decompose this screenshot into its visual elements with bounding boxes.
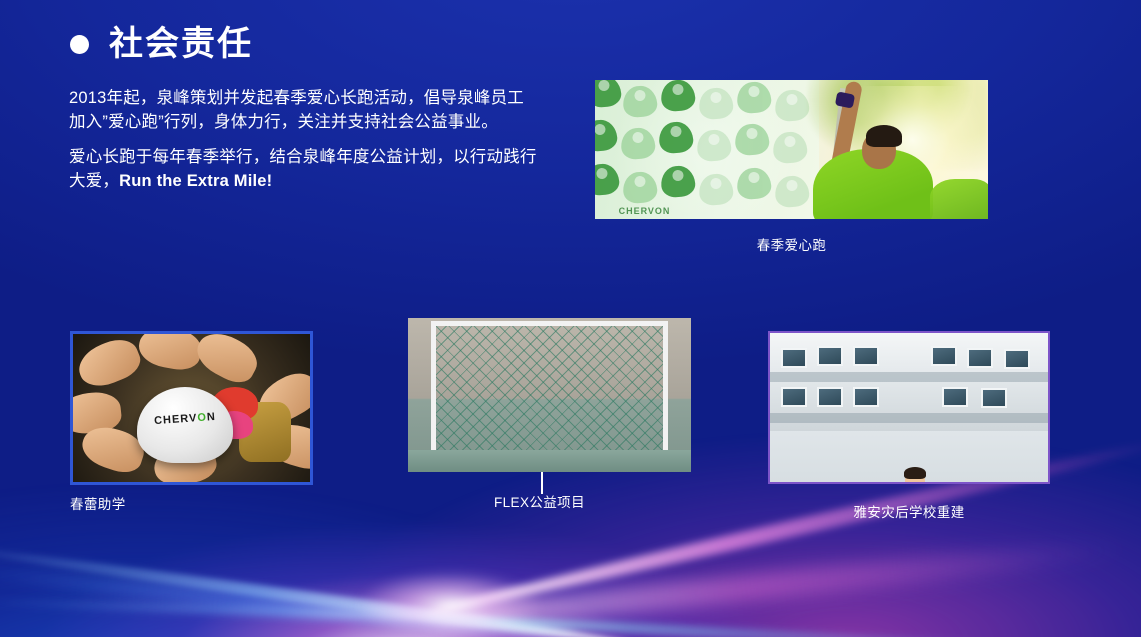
light-burst-core	[355, 570, 545, 637]
photo-chunlei-scholarship: CHERVON	[70, 331, 313, 485]
page-title: 社会责任	[109, 26, 253, 63]
second-runner	[930, 179, 988, 219]
caption-chunlei-scholarship: 春蕾助学	[70, 493, 313, 513]
paragraph-2-bold-tail: Run the Extra Mile!	[119, 172, 272, 190]
slide-canvas: 社会责任 2013年起，泉峰策划并发起春季爱心长跑活动，倡导泉峰员工加入”爱心跑…	[0, 0, 1141, 637]
body-copy: 2013年起，泉峰策划并发起春季爱心长跑活动，倡导泉峰员工加入”爱心跑”行列，身…	[69, 87, 539, 194]
caption-spring-charity-run: 春季爱心跑	[595, 234, 988, 254]
figure-yaan-school-rebuild: 雅安灾后学校重建	[768, 331, 1050, 521]
caption-flex-charity-project: FLEX公益项目	[494, 491, 585, 511]
caption-yaan-school-rebuild: 雅安灾后学校重建	[768, 501, 1050, 521]
page-header: 社会责任	[70, 26, 253, 63]
paragraph-2: 爱心长跑于每年春季举行，结合泉峰年度公益计划，以行动践行大爱，Run the E…	[69, 146, 539, 194]
runner-hair	[866, 125, 902, 147]
cap-wordmark: CHERVON	[154, 411, 217, 427]
photo-yaan-school-rebuild	[768, 331, 1050, 484]
figure-chunlei-scholarship: CHERVON 春蕾助学	[70, 331, 313, 513]
photo-flex-charity-project	[408, 318, 691, 472]
runner-wristband	[834, 91, 854, 108]
paragraph-1: 2013年起，泉峰策划并发起春季爱心长跑活动，倡导泉峰员工加入”爱心跑”行列，身…	[69, 87, 539, 135]
chervon-wordmark: CHERVON	[619, 206, 671, 216]
photo-spring-charity-run: CHERVON	[595, 80, 988, 219]
chervon-cap: CHERVON	[137, 387, 233, 463]
figure-spring-charity-run: CHERVON 春季爱心跑	[595, 80, 988, 254]
bullet-dot-icon	[70, 35, 89, 54]
figure-flex-charity-project: FLEX公益项目	[408, 318, 691, 472]
